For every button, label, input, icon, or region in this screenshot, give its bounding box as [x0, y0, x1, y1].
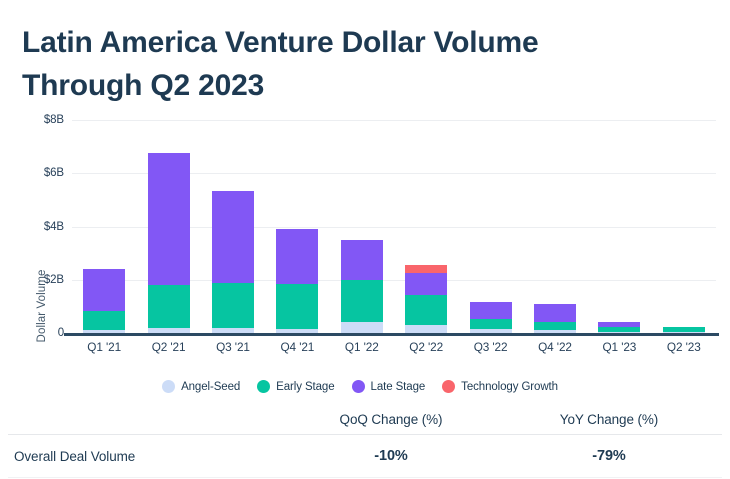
- bar-q222[interactable]: [405, 265, 447, 333]
- x-tick-label: Q2 '21: [136, 340, 200, 354]
- legend-label: Late Stage: [371, 381, 426, 393]
- bar-q321[interactable]: [212, 191, 254, 333]
- bar-segment-late[interactable]: [148, 153, 190, 285]
- bar-segment-late[interactable]: [83, 269, 125, 312]
- x-tick-label: Q3 '22: [458, 340, 522, 354]
- x-tick-label: Q4 '21: [265, 340, 329, 354]
- x-tick-label: Q3 '21: [201, 340, 265, 354]
- legend-item-late-stage[interactable]: Late Stage: [352, 380, 426, 393]
- table-header-yoy: YoY Change (%): [500, 412, 718, 427]
- bar-segment-late[interactable]: [276, 229, 318, 283]
- y-tick-label: $6B: [44, 167, 64, 179]
- row-value-qoq: -10%: [282, 448, 500, 464]
- legend-label: Early Stage: [276, 381, 334, 393]
- bar-q421[interactable]: [276, 229, 318, 333]
- bar-segment-early[interactable]: [534, 322, 576, 330]
- x-tick-label: Q2 '23: [652, 340, 716, 354]
- table-row: Overall Deal Volume -10% -79%: [0, 435, 730, 477]
- bar-segment-early[interactable]: [341, 280, 383, 323]
- x-tick-label: Q2 '22: [394, 340, 458, 354]
- bar-q422[interactable]: [534, 304, 576, 333]
- table-header-row: QoQ Change (%) YoY Change (%): [0, 404, 730, 434]
- bar-segment-early[interactable]: [148, 285, 190, 328]
- bar-segment-late[interactable]: [405, 273, 447, 295]
- bar-segment-angel[interactable]: [341, 322, 383, 333]
- x-axis-line: [64, 333, 719, 336]
- table-header-qoq: QoQ Change (%): [282, 412, 500, 427]
- bar-segment-early[interactable]: [276, 284, 318, 329]
- bar-segment-early[interactable]: [83, 311, 125, 330]
- chart-legend: Angel-SeedEarly StageLate StageTechnolog…: [0, 380, 730, 393]
- row-value-yoy: -79%: [500, 448, 718, 464]
- table-divider-bottom: [8, 477, 722, 478]
- summary-table: QoQ Change (%) YoY Change (%) Overall De…: [0, 404, 730, 478]
- bar-q123[interactable]: [598, 322, 640, 333]
- legend-swatch-icon: [442, 380, 455, 393]
- legend-item-early-stage[interactable]: Early Stage: [257, 380, 334, 393]
- legend-swatch-icon: [257, 380, 270, 393]
- legend-item-technology-growth[interactable]: Technology Growth: [442, 380, 558, 393]
- x-tick-label: Q4 '22: [523, 340, 587, 354]
- y-tick-label: $2B: [44, 274, 64, 286]
- bar-q122[interactable]: [341, 240, 383, 333]
- bar-q221[interactable]: [148, 153, 190, 333]
- bar-segment-late[interactable]: [341, 240, 383, 280]
- bar-series-container: [72, 120, 716, 333]
- x-tick-label: Q1 '21: [72, 340, 136, 354]
- legend-label: Technology Growth: [461, 381, 558, 393]
- x-axis-labels: Q1 '21Q2 '21Q3 '21Q4 '21Q1 '22Q2 '22Q3 '…: [72, 340, 716, 360]
- page-title: Latin America Venture Dollar Volume Thro…: [22, 22, 692, 107]
- row-label-overall-deal-volume: Overall Deal Volume: [0, 449, 282, 464]
- legend-swatch-icon: [162, 380, 175, 393]
- bar-segment-late[interactable]: [470, 302, 512, 320]
- legend-label: Angel-Seed: [181, 381, 240, 393]
- bar-segment-late[interactable]: [212, 191, 254, 283]
- x-tick-label: Q1 '23: [587, 340, 651, 354]
- x-tick-label: Q1 '22: [330, 340, 394, 354]
- y-axis-label: Dollar Volume: [36, 246, 48, 366]
- bar-segment-tech[interactable]: [405, 265, 447, 273]
- bar-segment-angel[interactable]: [405, 325, 447, 333]
- bar-segment-early[interactable]: [470, 319, 512, 328]
- y-tick-label: $4B: [44, 221, 64, 233]
- chart-area: Dollar Volume $8B$6B$4B$2B0: [0, 112, 730, 362]
- bar-segment-late[interactable]: [534, 304, 576, 322]
- y-tick-label: $8B: [44, 114, 64, 126]
- chart-page: Latin America Venture Dollar Volume Thro…: [0, 0, 730, 479]
- legend-swatch-icon: [352, 380, 365, 393]
- bar-q121[interactable]: [83, 269, 125, 333]
- bar-q322[interactable]: [470, 302, 512, 333]
- legend-item-angel-seed[interactable]: Angel-Seed: [162, 380, 240, 393]
- bar-segment-early[interactable]: [212, 283, 254, 328]
- bar-segment-early[interactable]: [405, 295, 447, 324]
